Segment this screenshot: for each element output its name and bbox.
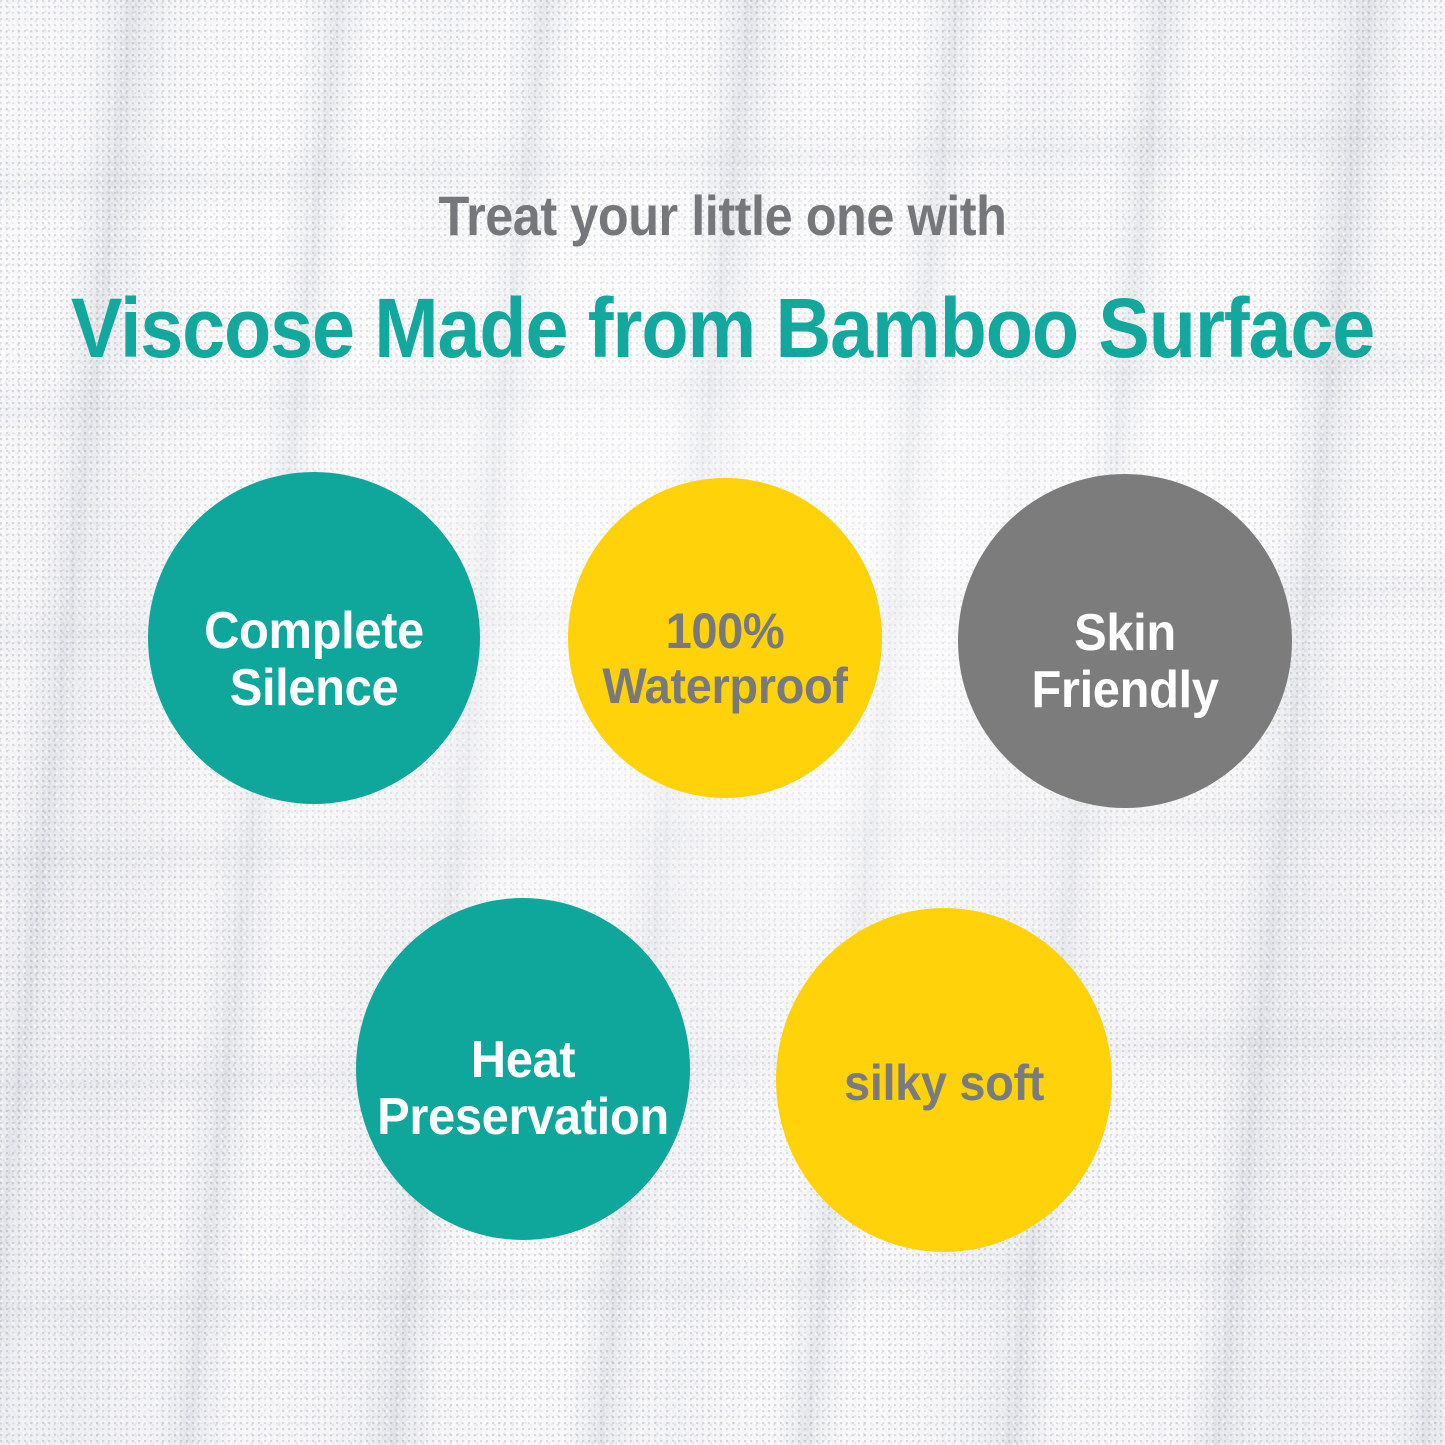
page-title: Viscose Made from Bamboo Surface [58, 286, 1387, 370]
feature-circle-heat-preservation: Heat Preservation [356, 898, 690, 1240]
infographic-canvas: Treat your little one with Viscose Made … [0, 0, 1445, 1445]
feature-label-skin-friendly: Skin Friendly [968, 605, 1282, 719]
feature-circle-complete-silence: Complete Silence [148, 472, 480, 804]
eyebrow-text: Treat your little one with [72, 188, 1373, 244]
feature-label-heat-preservation: Heat Preservation [366, 1032, 680, 1146]
feature-label-complete-silence: Complete Silence [158, 603, 470, 717]
heading-block: Treat your little one with Viscose Made … [0, 188, 1445, 370]
feature-label-silky-soft: silky soft [786, 1056, 1102, 1111]
feature-circle-skin-friendly: Skin Friendly [958, 474, 1292, 808]
feature-circle-silky-soft: silky soft [776, 908, 1112, 1252]
feature-circle-waterproof: 100% Waterproof [568, 478, 882, 798]
feature-label-waterproof: 100% Waterproof [577, 604, 872, 714]
